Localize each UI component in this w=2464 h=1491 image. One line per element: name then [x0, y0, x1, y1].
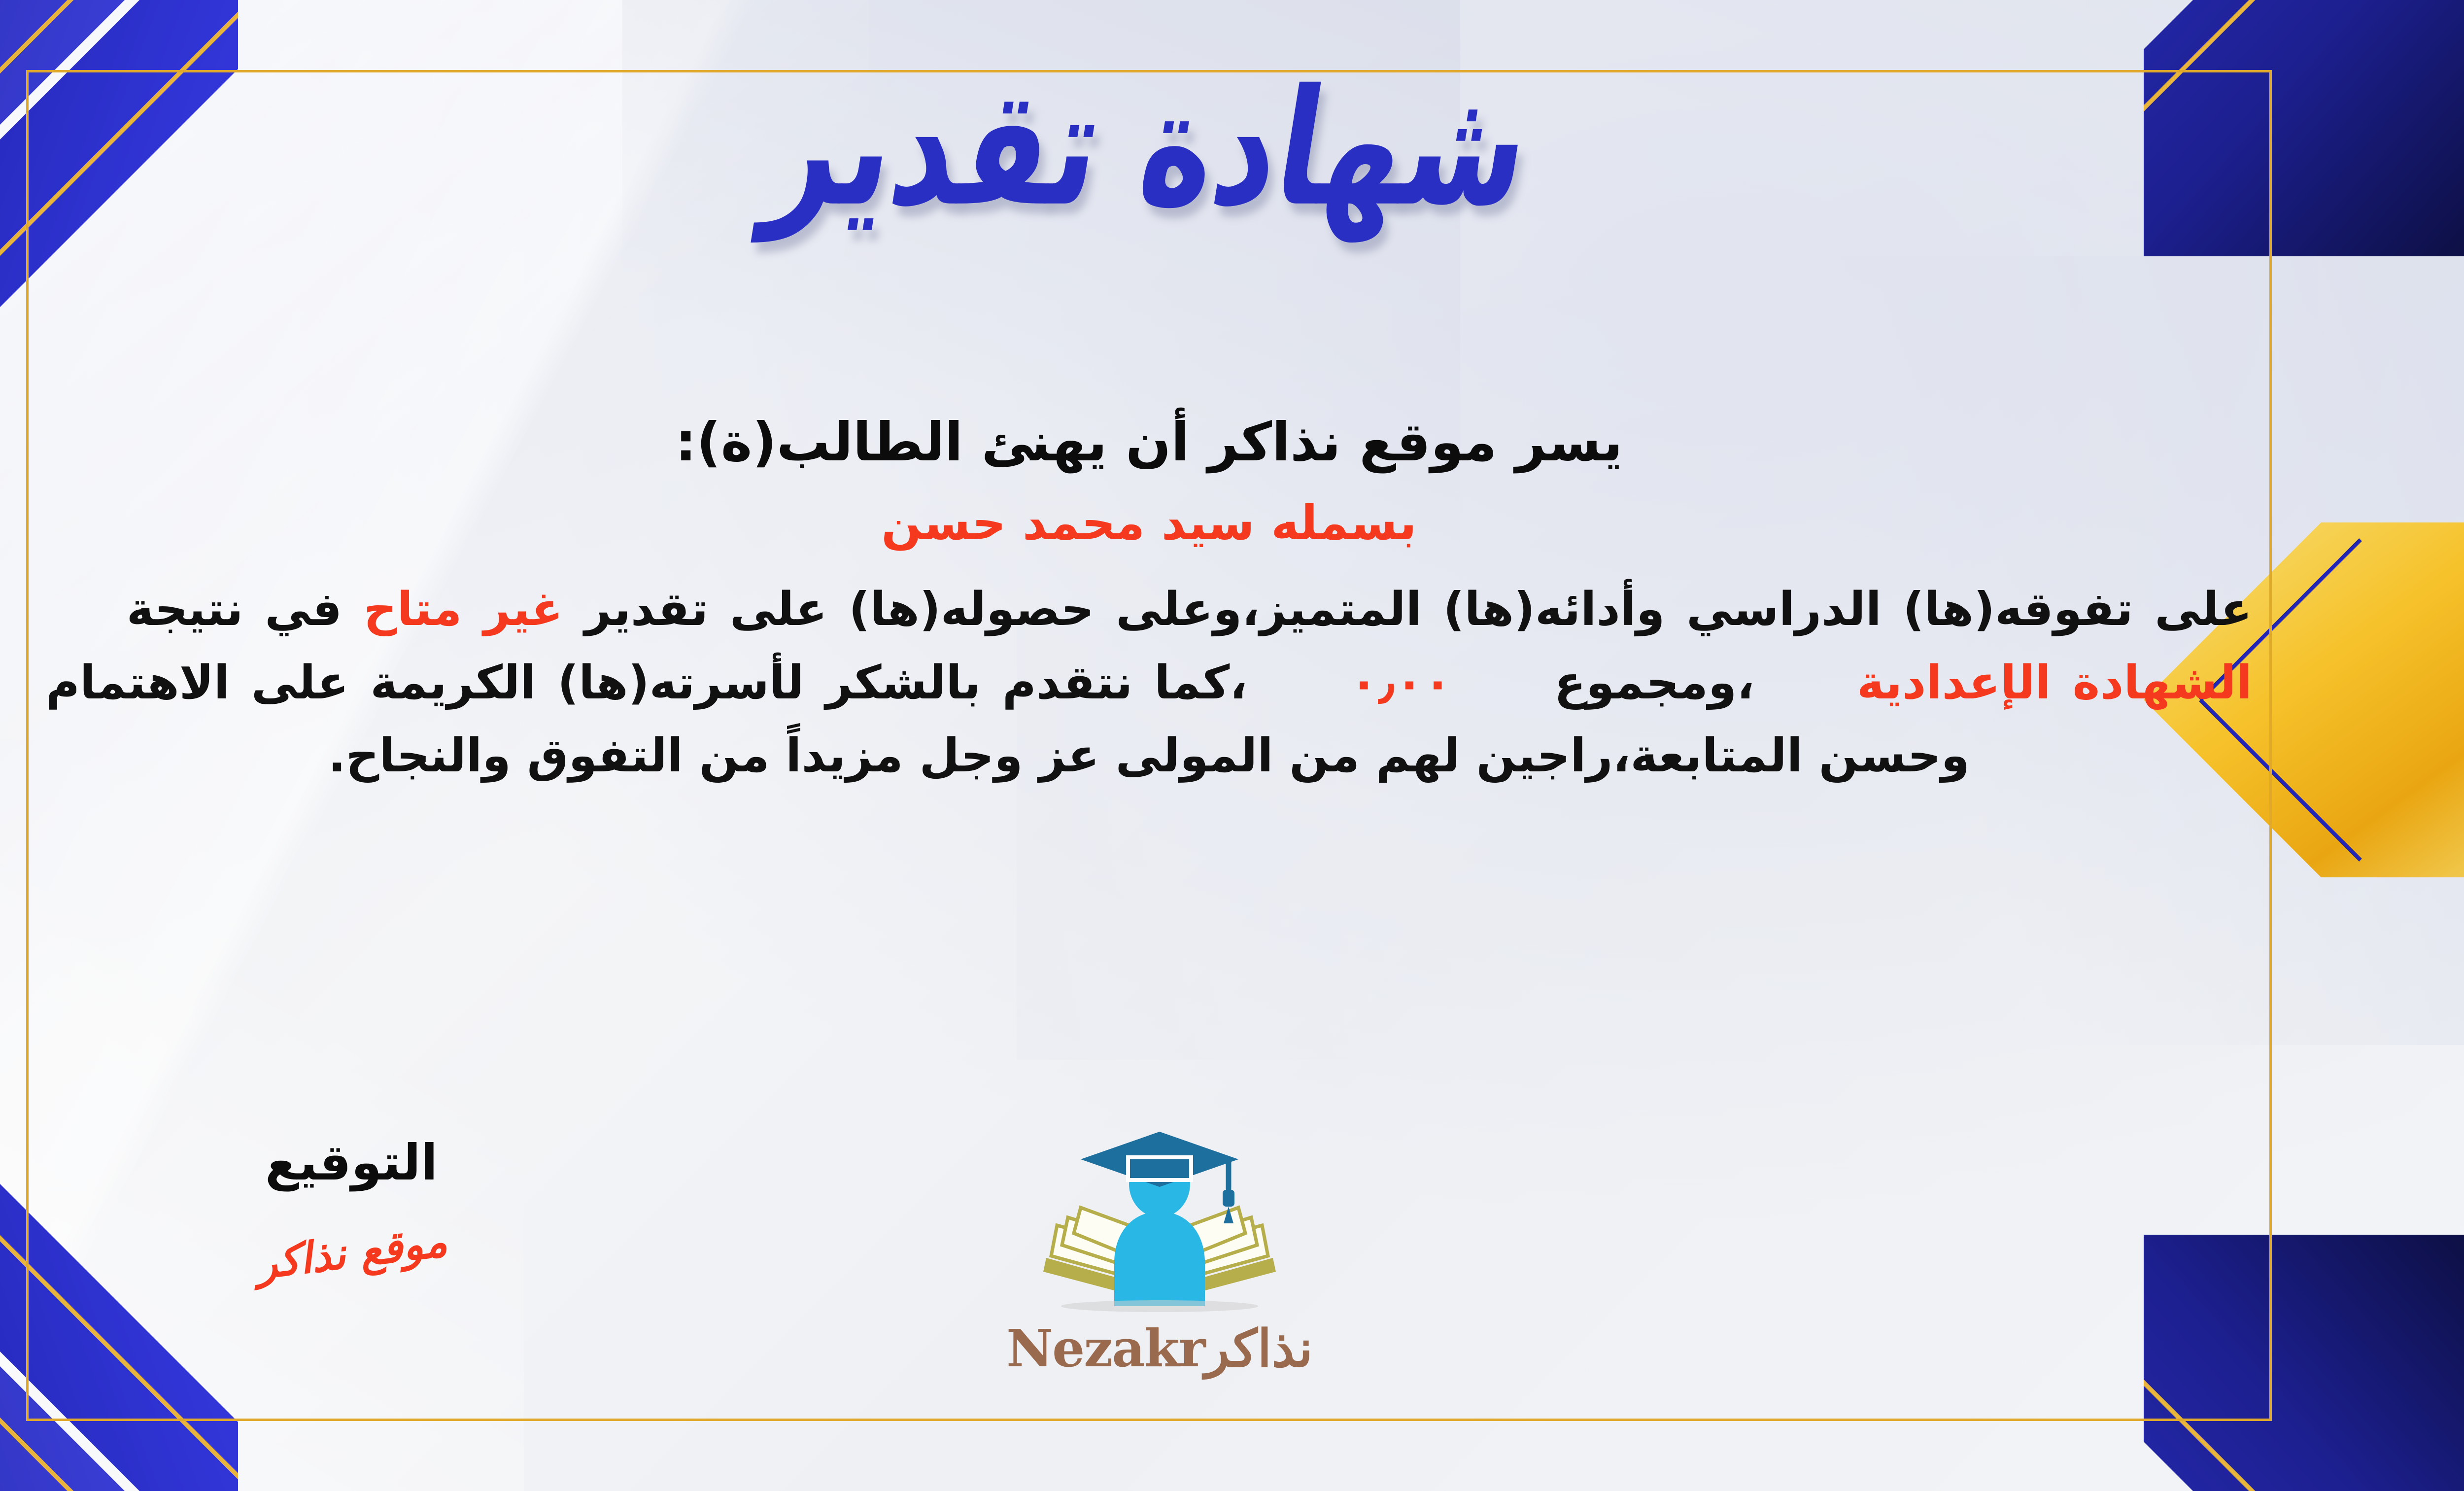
logo-word-arabic: نذاكر — [1205, 1318, 1313, 1379]
signature-block: التوقيع موقع نذاكر — [218, 1134, 484, 1278]
body-part-3: ،ومجموع — [1554, 656, 1754, 710]
total-score: ٠٫٠٠ — [1350, 656, 1452, 710]
graduate-book-icon — [1031, 1129, 1288, 1316]
cap-band — [1128, 1157, 1191, 1180]
body-paragraph: على تفوقه(ها) الدراسي وأدائه(ها) المتميز… — [46, 573, 2252, 793]
student-name: بسمله سيد محمد حسن — [46, 493, 2252, 553]
exam-name: الشهادة الإعدادية — [1857, 656, 2252, 710]
certificate-canvas: شهادة تقدير يسر موقع نذاكر أن يهنئ الطال… — [0, 0, 2464, 1491]
logo-shadow — [1061, 1300, 1258, 1312]
page-title: شهادة تقدير — [757, 65, 1540, 233]
greeting-line: يسر موقع نذاكر أن يهنئ الطالب(ة): — [46, 409, 2252, 476]
signature-label: التوقيع — [218, 1134, 484, 1191]
body-part-6: مزيداً من التفوق والنجاح. — [328, 729, 903, 783]
graduate-body — [1114, 1212, 1205, 1306]
body-part-4: ،كما نتقدم بالشكر لأسرته(ها) — [557, 656, 1247, 710]
title-container: شهادة تقدير — [0, 84, 2464, 213]
logo-wordmark: نذاكرNezakr — [962, 1318, 1357, 1379]
tassel-knot — [1223, 1190, 1234, 1207]
logo-word-english: Nezakr — [1006, 1318, 1205, 1379]
grade-value: غير متاح — [364, 583, 563, 636]
body-part-2: في نتيجة — [127, 583, 342, 636]
brand-logo: نذاكرNezakr — [962, 1129, 1357, 1379]
body-part-1: على تفوقه(ها) الدراسي وأدائه(ها) المتميز… — [584, 583, 2252, 636]
certificate-body: يسر موقع نذاكر أن يهنئ الطالب(ة): بسمله … — [46, 409, 2252, 793]
